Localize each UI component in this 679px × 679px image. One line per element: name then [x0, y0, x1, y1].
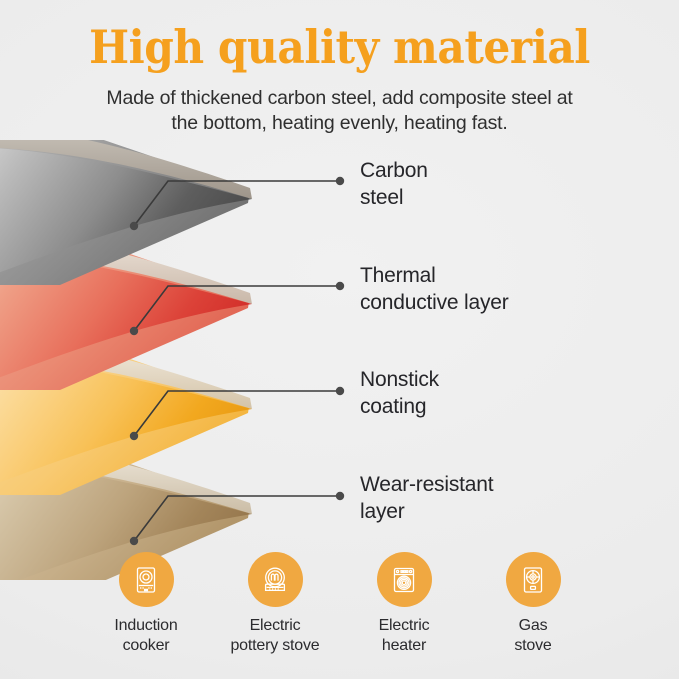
compat-label-electric-heater-line-1: Electric — [379, 616, 430, 636]
layer-label-thermal-conductive-line-1: Thermal — [360, 262, 509, 289]
layer-label-wear-resistant-line-2: layer — [360, 498, 493, 525]
subtitle-line-1: Made of thickened carbon steel, add comp… — [106, 87, 572, 109]
compat-item-electric-heater: Electric heater — [340, 552, 469, 656]
compat-label-electric-pottery-stove-line-2: pottery stove — [230, 636, 319, 656]
gas-stove-icon — [506, 552, 561, 607]
compat-item-induction-cooker: Induction cooker — [82, 552, 211, 656]
electric-heater-icon — [377, 552, 432, 607]
page-subtitle: Made of thickened carbon steel, add comp… — [0, 70, 679, 136]
layered-material-illustration — [0, 140, 360, 580]
header: High quality material Made of thickened … — [0, 0, 679, 136]
layer-label-nonstick-coating-line-1: Nonstick — [360, 366, 439, 393]
induction-cooker-icon — [119, 552, 174, 607]
compat-label-induction-cooker: Induction cooker — [114, 616, 177, 656]
compat-label-gas-stove-line-1: Gas — [514, 616, 551, 636]
compat-label-electric-heater: Electric heater — [379, 616, 430, 656]
layer-label-nonstick-coating-line-2: coating — [360, 393, 439, 420]
layer-label-carbon-steel: Carbon steel — [360, 157, 428, 211]
compat-label-induction-cooker-line-2: cooker — [114, 636, 177, 656]
subtitle-line-2: the bottom, heating evenly, heating fast… — [0, 111, 679, 136]
layer-label-thermal-conductive: Thermal conductive layer — [360, 262, 509, 316]
layer-label-wear-resistant: Wear-resistant layer — [360, 471, 493, 525]
compatibility-list: Induction cooker — [0, 552, 679, 679]
electric-pottery-stove-icon — [248, 552, 303, 607]
compat-label-electric-pottery-stove-line-1: Electric — [230, 616, 319, 636]
layer-label-wear-resistant-line-1: Wear-resistant — [360, 471, 493, 498]
compat-item-gas-stove: Gas stove — [469, 552, 598, 656]
compat-label-induction-cooker-line-1: Induction — [114, 616, 177, 636]
infographic-page: High quality material Made of thickened … — [0, 0, 679, 679]
compat-label-gas-stove-line-2: stove — [514, 636, 551, 656]
compat-label-gas-stove: Gas stove — [514, 616, 551, 656]
layer-label-carbon-steel-line-2: steel — [360, 184, 428, 211]
page-title: High quality material — [27, 0, 652, 70]
compat-item-electric-pottery-stove: Electric pottery stove — [211, 552, 340, 656]
compat-label-electric-heater-line-2: heater — [379, 636, 430, 656]
layer-label-thermal-conductive-line-2: conductive layer — [360, 289, 509, 316]
compat-label-electric-pottery-stove: Electric pottery stove — [230, 616, 319, 656]
layer-label-carbon-steel-line-1: Carbon — [360, 157, 428, 184]
layer-label-nonstick-coating: Nonstick coating — [360, 366, 439, 420]
